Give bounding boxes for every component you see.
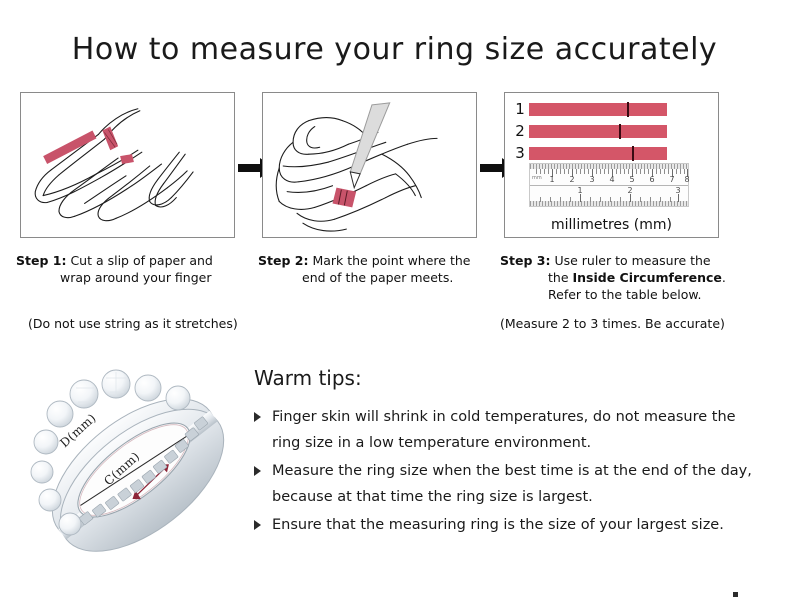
step-1-caption: Step 1: Cut a slip of paper and wrap aro… <box>16 252 256 286</box>
step-3-inside-circumference: Inside Circumference <box>573 270 722 285</box>
eternity-ring-with-measurement-labels <box>26 352 251 582</box>
paper-strip-row: 3 <box>511 145 667 162</box>
step-2-label: Step 2: <box>258 253 308 268</box>
cm-tick-label: 6 <box>649 175 654 184</box>
step-2-illustration-panel <box>262 92 477 238</box>
step-1-label: Step 1: <box>16 253 66 268</box>
cm-tick-label: 3 <box>589 175 594 184</box>
step-1-line1: Cut a slip of paper and <box>70 253 212 268</box>
tip-item: Ensure that the measuring ring is the si… <box>254 512 754 538</box>
cm-tick-label: 1 <box>549 175 554 184</box>
paper-strip-bars: 1 2 3 <box>511 101 667 167</box>
warm-tips-section: Warm tips: Finger skin will shrink in co… <box>254 366 754 540</box>
ruler-cm-scale: 1 2 3 4 5 <box>530 169 688 185</box>
strip-bar-1 <box>529 103 667 116</box>
tip-item: Measure the ring size when the best time… <box>254 458 754 510</box>
ruler-graphic: mm 1 2 3 4 <box>529 163 689 207</box>
step-3-caption: Step 3: Use ruler to measure the the Ins… <box>500 252 770 303</box>
ring-diagram <box>26 352 251 582</box>
hand-marking-paper-with-pen-sketch <box>263 93 476 237</box>
cm-tick-label: 2 <box>569 175 574 184</box>
inch-tick-label: 3 <box>675 186 680 195</box>
cm-tick-label: 7 <box>669 175 674 184</box>
corner-artifact <box>733 592 738 597</box>
tip-text: Measure the ring size when the best time… <box>272 463 752 505</box>
ruler-inch-scale: 1 2 3 <box>530 186 688 202</box>
step-3-illustration-panel: 1 2 3 <box>504 92 719 238</box>
inch-tick-label: 2 <box>627 186 632 195</box>
strip-number: 1 <box>511 102 529 117</box>
hand-with-paper-strip-sketch <box>21 93 234 237</box>
step-3-label: Step 3: <box>500 253 550 268</box>
tip-text: Ensure that the measuring ring is the si… <box>272 517 724 533</box>
ring-size-guide-page: How to measure your ring size accurately <box>0 0 789 606</box>
paper-strip-row: 2 <box>511 123 667 140</box>
strip-number: 2 <box>511 124 529 139</box>
strip-mark-3 <box>632 146 634 161</box>
steps-illustration-row: 1 2 3 <box>0 92 789 242</box>
step-3-line2: the Inside Circumference. <box>500 269 770 286</box>
strip-number: 3 <box>511 146 529 161</box>
triangle-bullet-icon <box>254 520 261 530</box>
step-3-line2-prefix: the <box>548 270 573 285</box>
millimetres-caption: millimetres (mm) <box>505 217 718 233</box>
strip-mark-2 <box>619 124 621 139</box>
triangle-bullet-icon <box>254 412 261 422</box>
inch-tick-label: 1 <box>577 186 582 195</box>
step-1-line2: wrap around your finger <box>16 269 256 286</box>
step-1-note: (Do not use string as it stretches) <box>28 316 238 331</box>
strip-mark-1 <box>627 102 629 117</box>
step-3-line2-suffix: . <box>722 270 726 285</box>
step-2-line2: end of the paper meets. <box>258 269 498 286</box>
cm-tick-label: 5 <box>629 175 634 184</box>
tip-item: Finger skin will shrink in cold temperat… <box>254 404 754 456</box>
warm-tips-heading: Warm tips: <box>254 366 754 390</box>
strip-bar-2 <box>529 125 667 138</box>
strip-bar-3 <box>529 147 667 160</box>
tip-text: Finger skin will shrink in cold temperat… <box>272 409 736 451</box>
page-title: How to measure your ring size accurately <box>0 32 789 67</box>
step-2-line1: Mark the point where the <box>312 253 470 268</box>
step-1-illustration-panel <box>20 92 235 238</box>
paper-strip-row: 1 <box>511 101 667 118</box>
step-3-note: (Measure 2 to 3 times. Be accurate) <box>500 316 725 331</box>
triangle-bullet-icon <box>254 466 261 476</box>
step-2-caption: Step 2: Mark the point where the end of … <box>258 252 498 286</box>
cm-tick-label: 4 <box>609 175 614 184</box>
cm-tick-label: 8 <box>684 175 689 184</box>
step-3-line1: Use ruler to measure the <box>554 253 710 268</box>
step-3-line3: Refer to the table below. <box>500 286 770 303</box>
